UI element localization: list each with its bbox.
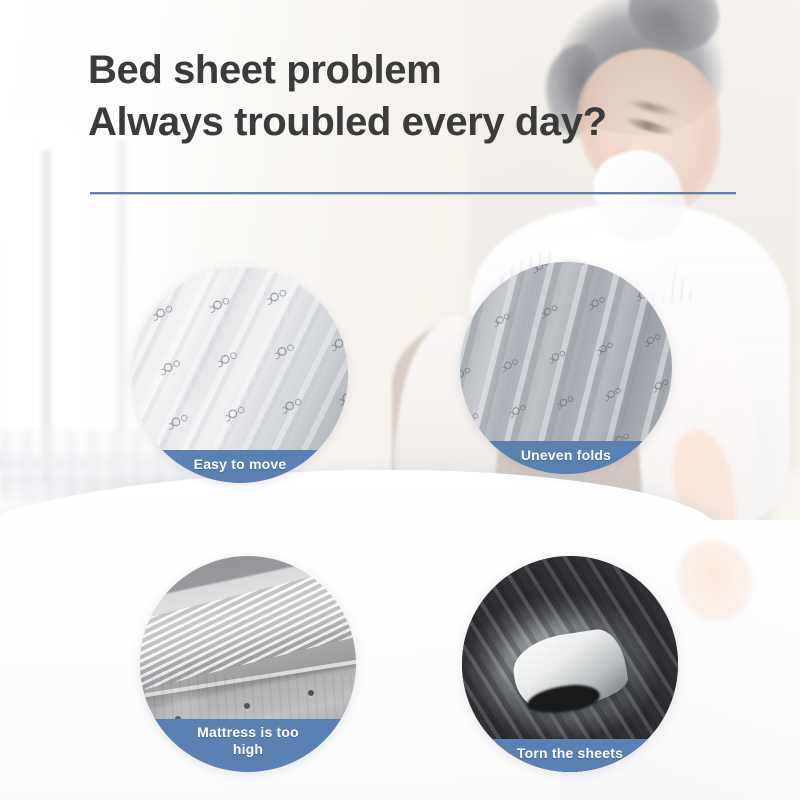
problem-label-easy-to-move: Easy to move	[132, 450, 348, 483]
problem-label-uneven-folds: Uneven folds	[460, 441, 672, 474]
problem-label-text: Easy to move	[194, 456, 287, 472]
problem-circle-torn-sheets[interactable]: Torn the sheets	[462, 556, 678, 772]
headline-line-2: Always troubled every day?	[88, 96, 748, 148]
window-frame-left	[42, 150, 51, 480]
person-neck	[592, 196, 670, 272]
person-right-hand	[670, 533, 759, 629]
tissue	[584, 139, 694, 253]
mattress-stud	[308, 690, 314, 696]
person-nose	[610, 150, 636, 190]
mattress-seam	[140, 659, 356, 699]
problem-label-text-line-2: high	[233, 741, 263, 757]
mattress-stud	[244, 703, 250, 709]
header-divider	[90, 192, 736, 194]
problem-label-torn-sheets: Torn the sheets	[462, 739, 678, 772]
problem-circle-mattress-too-high[interactable]: Mattress is too high	[140, 556, 356, 772]
problem-label-mattress-too-high: Mattress is too high	[140, 719, 356, 772]
problem-circle-uneven-folds[interactable]: Uneven folds	[460, 262, 672, 474]
product-infographic: Bed sheet problem Always troubled every …	[0, 0, 800, 800]
headline-line-1: Bed sheet problem	[88, 44, 748, 96]
problem-label-text-line-1: Mattress is too	[197, 724, 299, 740]
problem-label-text: Uneven folds	[521, 447, 611, 463]
page-title: Bed sheet problem Always troubled every …	[88, 44, 748, 148]
problem-circle-easy-to-move[interactable]: Easy to move	[132, 267, 348, 483]
problem-label-text: Torn the sheets	[517, 745, 623, 761]
person-right-forearm	[666, 426, 744, 563]
